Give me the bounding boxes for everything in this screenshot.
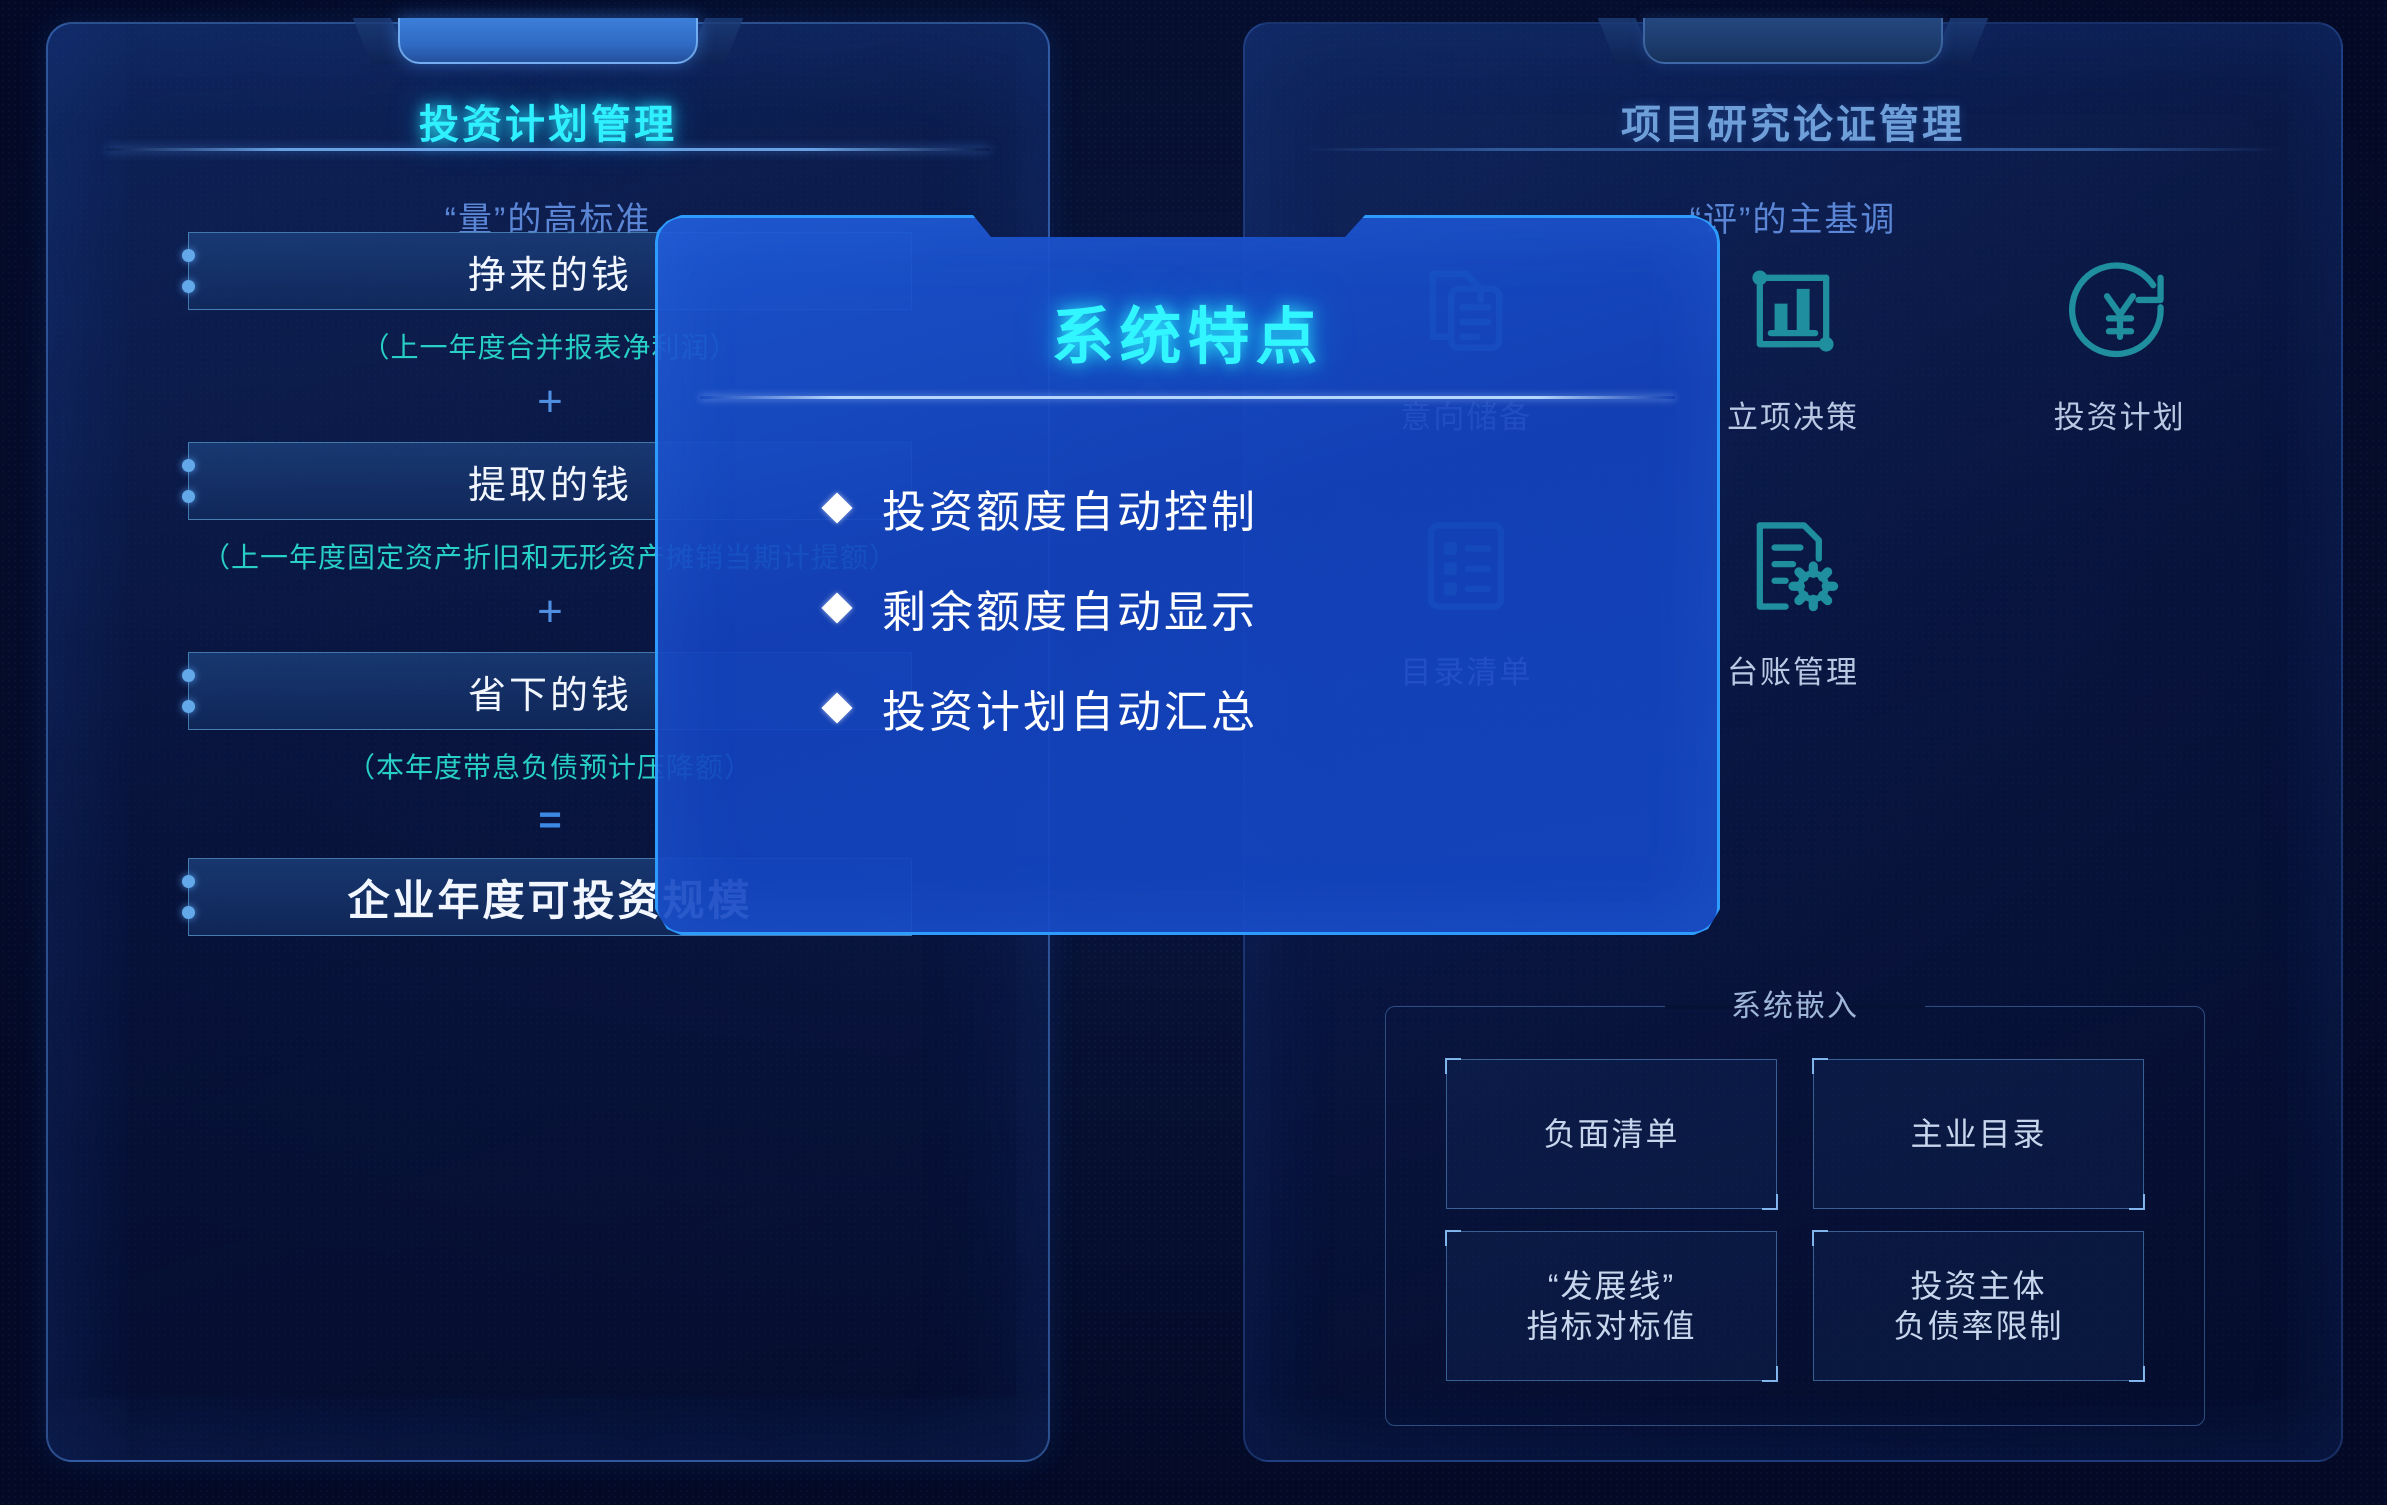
feature-label: 投资额度自动控制 [882,476,1258,540]
chip-dot-bottom-icon [182,700,195,713]
slide-canvas: 投资计划管理 “量”的高标准 挣来的钱 （上一年度合并报表净利润） + 提取的钱… [0,0,2387,1505]
list-item: 投资计划自动汇总 [826,676,1657,740]
chip-dot-top-icon [182,669,195,682]
panel-top-notch-right [1643,18,1943,64]
embed-box-development-line-benchmark[interactable]: “发展线” 指标对标值 [1446,1231,1777,1381]
chip-label: 省下的钱 [468,664,632,719]
embed-box-line1: 投资主体 [1910,1268,2046,1304]
module-item-empty-slot [1956,507,2283,692]
embed-box-investor-debt-ratio-limit[interactable]: 投资主体 负债率限制 [1813,1231,2144,1381]
module-label: 投资计划 [2054,392,2186,437]
system-embed-group: 系统嵌入 负面清单 主业目录 “发展线” 指标对标值 投资主体 [1385,1006,2205,1426]
embed-box-negative-list[interactable]: 负面清单 [1446,1059,1777,1209]
diamond-bullet-icon [821,492,852,523]
yen-circle-icon [2061,252,2179,370]
feature-label: 剩余额度自动显示 [882,576,1258,640]
chip-label: 挣来的钱 [468,244,632,299]
chip-label: 提取的钱 [468,454,632,509]
right-title-divider [1303,148,2283,151]
diamond-bullet-icon [821,692,852,723]
list-item: 剩余额度自动显示 [826,576,1657,640]
embed-caption: 系统嵌入 [1705,981,1885,1025]
chip-dot-top-icon [182,459,195,472]
embed-box-line2: 负债率限制 [1893,1308,2063,1344]
popup-title-divider [700,396,1675,399]
chip-dot-bottom-icon [182,906,195,919]
right-panel-title: 项目研究论证管理 [1245,92,2341,150]
left-title-divider [106,148,990,151]
ledger-gear-icon [1734,507,1852,625]
embed-box-grid: 负面清单 主业目录 “发展线” 指标对标值 投资主体 负债率限制 [1446,1059,2144,1381]
module-label: 台账管理 [1727,647,1859,692]
bar-chart-icon [1734,252,1852,370]
embed-box-line2: 指标对标值 [1526,1308,1696,1344]
embed-box-line1: “发展线” [1548,1268,1675,1304]
embed-box-line1: 主业目录 [1910,1116,2046,1152]
popup-body: 系统特点 投资额度自动控制 剩余额度自动显示 投资计划自动汇总 [658,218,1717,932]
list-item: 投资额度自动控制 [826,476,1657,540]
panel-top-notch-left [398,18,698,64]
popup-title: 系统特点 [658,286,1717,376]
feature-label: 投资计划自动汇总 [882,676,1258,740]
system-features-popup-card[interactable]: 系统特点 投资额度自动控制 剩余额度自动显示 投资计划自动汇总 [655,215,1720,935]
chip-dot-top-icon [182,875,195,888]
chip-dot-top-icon [182,249,195,262]
chip-dot-bottom-icon [182,280,195,293]
chip-dot-bottom-icon [182,490,195,503]
module-item-investment-plan[interactable]: 投资计划 [1956,252,2283,437]
embed-box-main-business-catalog[interactable]: 主业目录 [1813,1059,2144,1209]
popup-feature-list: 投资额度自动控制 剩余额度自动显示 投资计划自动汇总 [826,476,1657,776]
embed-box-line1: 负面清单 [1543,1116,1679,1152]
diamond-bullet-icon [821,592,852,623]
module-label: 立项决策 [1727,392,1859,437]
left-panel-title: 投资计划管理 [48,92,1048,150]
